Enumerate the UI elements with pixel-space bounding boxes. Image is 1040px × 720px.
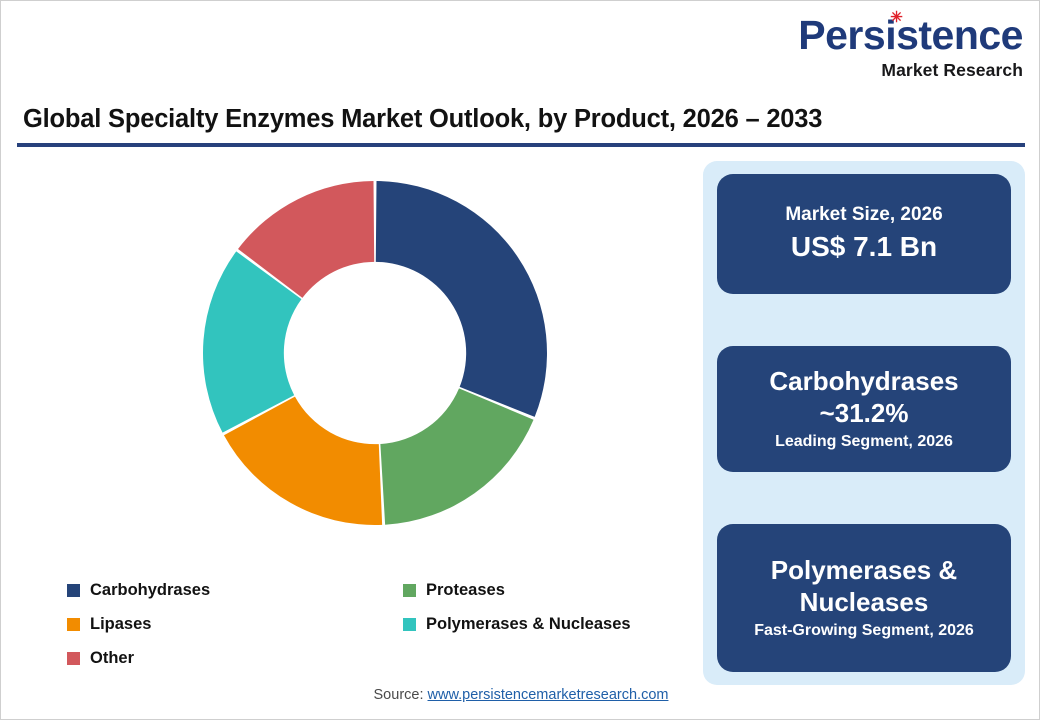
stat-card-fast-growing-segment-note: Fast-Growing Segment, 2026 [754, 621, 974, 641]
source-line: Source: www.persistencemarketresearch.co… [1, 687, 1040, 703]
legend-label-lipases: Lipases [90, 615, 151, 634]
page-title: Global Specialty Enzymes Market Outlook,… [23, 105, 822, 134]
source-prefix: Source: [374, 687, 428, 703]
stat-card-leading-segment: Carbohydrases ~31.2% Leading Segment, 20… [717, 346, 1011, 472]
legend-swatch-carbohydrases [67, 584, 80, 597]
stat-card-leading-segment-share: ~31.2% [810, 398, 919, 430]
brand-name-text: Persistence [798, 12, 1023, 58]
source-url-link[interactable]: www.persistencemarketresearch.com [428, 687, 669, 703]
chart-legend: Carbohydrases Proteases Lipases Polymera… [67, 573, 687, 675]
legend-label-proteases: Proteases [426, 581, 505, 600]
donut-slice-group [203, 181, 547, 525]
donut-chart [199, 177, 551, 529]
stat-card-fast-growing-segment-name-line2: Nucleases [790, 587, 939, 619]
legend-label-carbohydrases: Carbohydrases [90, 581, 210, 600]
legend-item-other: Other [67, 649, 403, 668]
legend-row: Lipases Polymerases & Nucleases [67, 607, 687, 641]
legend-row: Other [67, 641, 687, 675]
legend-swatch-lipases [67, 618, 80, 631]
legend-item-carbohydrases: Carbohydrases [67, 581, 403, 600]
donut-slice [376, 181, 547, 417]
red-asterisk-icon: ✳ [890, 12, 901, 23]
stats-panel: Market Size, 2026 US$ 7.1 Bn Carbohydras… [703, 161, 1025, 685]
legend-item-polymerases-nucleases: Polymerases & Nucleases [403, 615, 631, 634]
stat-card-fast-growing-segment: Polymerases & Nucleases Fast-Growing Seg… [717, 524, 1011, 672]
stat-card-fast-growing-segment-name-line1: Polymerases & [761, 555, 967, 587]
donut-slice [380, 388, 533, 524]
infographic-canvas: Persistence ✳ Market Research Global Spe… [0, 0, 1040, 720]
brand-name-wordmark: Persistence ✳ [798, 15, 1023, 56]
legend-swatch-proteases [403, 584, 416, 597]
stat-card-market-size-label: Market Size, 2026 [785, 204, 942, 227]
stat-card-leading-segment-name: Carbohydrases [759, 366, 968, 398]
legend-row: Carbohydrases Proteases [67, 573, 687, 607]
donut-chart-svg [199, 177, 551, 529]
legend-item-proteases: Proteases [403, 581, 505, 600]
legend-item-lipases: Lipases [67, 615, 403, 634]
title-divider [17, 143, 1025, 147]
brand-logo: Persistence ✳ Market Research [783, 15, 1023, 81]
legend-label-polymerases-nucleases: Polymerases & Nucleases [426, 615, 631, 634]
legend-swatch-polymerases-nucleases [403, 618, 416, 631]
stat-card-leading-segment-note: Leading Segment, 2026 [775, 432, 953, 452]
brand-tagline: Market Research [783, 60, 1023, 81]
legend-label-other: Other [90, 649, 134, 668]
stat-card-market-size-value: US$ 7.1 Bn [791, 229, 937, 264]
legend-swatch-other [67, 652, 80, 665]
stat-card-market-size: Market Size, 2026 US$ 7.1 Bn [717, 174, 1011, 294]
